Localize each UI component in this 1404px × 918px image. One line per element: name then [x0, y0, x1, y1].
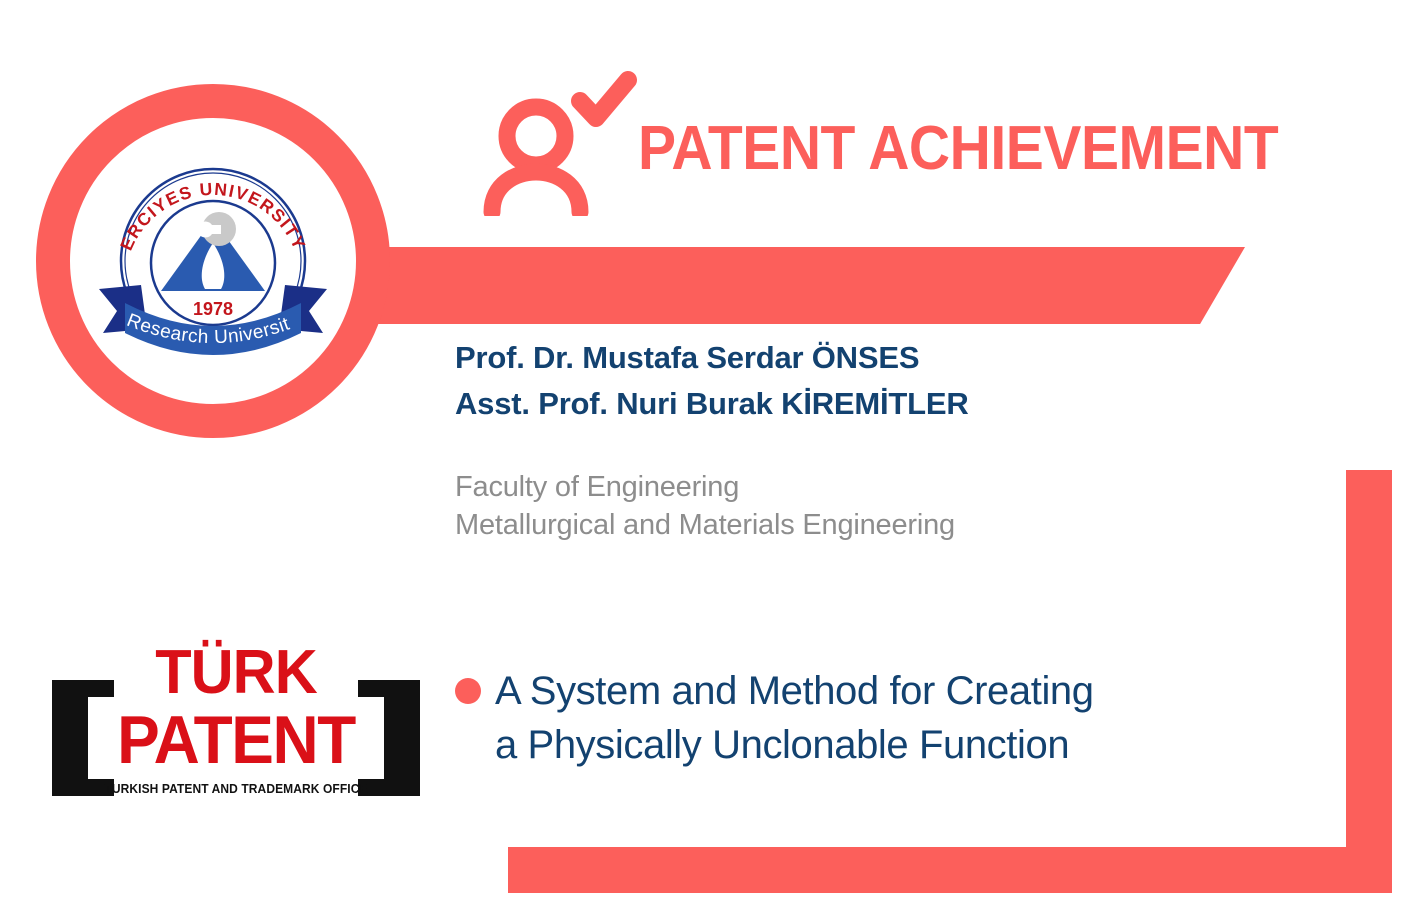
university-logo-circle: ERCIYES UNIVERSITY 1978 Research Univers…	[36, 84, 390, 438]
erciyes-university-emblem-icon: ERCIYES UNIVERSITY 1978 Research Univers…	[95, 143, 331, 379]
researcher-name-2: Asst. Prof. Nuri Burak KİREMİTLER	[455, 381, 1295, 427]
coral-corner-vertical-bar	[1346, 470, 1392, 893]
researcher-names: Prof. Dr. Mustafa Serdar ÖNSES Asst. Pro…	[455, 335, 1295, 427]
turk-patent-caption: TURKISH PATENT AND TRADEMARK OFFICE	[59, 782, 412, 796]
university-logo-inner: ERCIYES UNIVERSITY 1978 Research Univers…	[70, 118, 356, 404]
department-line-1: Faculty of Engineering	[455, 468, 1315, 506]
turk-patent-logo: TÜRK PATENT TURKISH PATENT AND TRADEMARK…	[52, 624, 420, 804]
turk-patent-line1: TÜRK	[59, 642, 412, 704]
patent-title-line-2: a Physically Unclonable Function	[495, 718, 1094, 772]
svg-text:1978: 1978	[193, 299, 233, 319]
department-info: Faculty of Engineering Metallurgical and…	[455, 468, 1315, 545]
turk-patent-line2: PATENT	[63, 706, 409, 774]
patent-achievement-poster: ERCIYES UNIVERSITY 1978 Research Univers…	[0, 0, 1404, 918]
person-check-icon	[478, 66, 638, 216]
patent-title-line-1: A System and Method for Creating	[495, 664, 1094, 718]
patent-title-block: A System and Method for Creating a Physi…	[455, 664, 1275, 772]
patent-title: A System and Method for Creating a Physi…	[495, 664, 1094, 772]
coral-corner-horizontal-bar	[508, 847, 1392, 893]
researcher-name-1: Prof. Dr. Mustafa Serdar ÖNSES	[455, 335, 1295, 381]
department-line-2: Metallurgical and Materials Engineering	[455, 506, 1315, 544]
bullet-dot-icon	[455, 678, 481, 704]
page-title: PATENT ACHIEVEMENT	[638, 118, 1278, 180]
